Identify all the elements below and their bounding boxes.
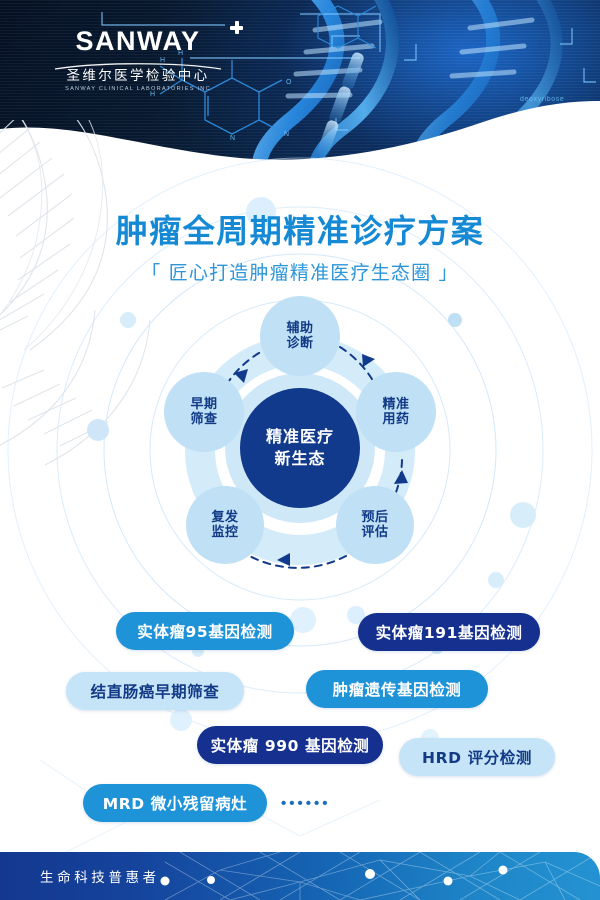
node-label-line2: 诊断: [286, 336, 313, 351]
node-label-line1: 早期: [190, 397, 217, 412]
cycle-node-early-screening[interactable]: 早期 筛查: [164, 372, 244, 452]
svg-text:O: O: [286, 79, 292, 86]
medical-cross-icon: [230, 21, 243, 34]
cycle-node-assisted-diagnosis[interactable]: 辅助 诊断: [260, 296, 340, 376]
product-pill-mrd[interactable]: MRD 微小残留病灶: [83, 784, 267, 822]
product-pill-solid-tumor-990[interactable]: 实体瘤 990 基因检测: [197, 726, 383, 764]
more-items-ellipsis: ••••••: [281, 795, 331, 812]
page-title: 肿瘤全周期精准诊疗方案: [0, 206, 600, 252]
logo-wordmark: SANWAY: [75, 28, 200, 55]
cycle-node-prognosis-evaluation[interactable]: 预后 评估: [336, 486, 414, 564]
logo-swoosh-divider: [53, 58, 223, 66]
node-label-line2: 监控: [211, 525, 238, 540]
footer-slogan: 生命科技普惠者: [40, 852, 160, 900]
cycle-center-line1: 精准医疗: [266, 426, 334, 448]
brand-logo: SANWAY 圣维尔医学检验中心 SANWAY CLINICAL LABORAT…: [48, 28, 228, 92]
product-pill-solid-tumor-191[interactable]: 实体瘤191基因检测: [358, 613, 540, 651]
page-subtitle: 「 匠心打造肿瘤精准医疗生态圈 」: [0, 258, 600, 285]
footer-bar: 生命科技普惠者: [0, 852, 600, 900]
cycle-center-node: 精准医疗 新生态: [240, 388, 360, 508]
node-label-line2: 用药: [382, 412, 409, 427]
product-pill-colorectal-screening[interactable]: 结直肠癌早期筛查: [66, 672, 244, 710]
logo-english-name: SANWAY CLINICAL LABORATORIES INC: [48, 86, 228, 92]
product-pill-solid-tumor-95[interactable]: 实体瘤95基因检测: [116, 612, 294, 650]
node-label-line2: 筛查: [190, 412, 217, 427]
node-label-line1: 辅助: [286, 321, 313, 336]
node-label-line1: 预后: [361, 510, 388, 525]
product-pill-hereditary-tumor[interactable]: 肿瘤遗传基因检测: [306, 670, 488, 708]
node-label-line1: 复发: [211, 510, 238, 525]
node-label-line1: 精准: [382, 397, 409, 412]
precision-medicine-cycle-diagram: 精准医疗 新生态 辅助 诊断 精准 用药 预后 评估 复发 监控 早期 筛查: [150, 300, 450, 600]
header-banner: HHH ONN deoxyribose guanine thymine SANW…: [0, 0, 600, 175]
node-label-line2: 评估: [361, 525, 388, 540]
product-pill-hrd-score[interactable]: HRD 评分检测: [399, 738, 555, 776]
cycle-node-precision-medication[interactable]: 精准 用药: [356, 372, 436, 452]
cycle-node-recurrence-monitoring[interactable]: 复发 监控: [186, 486, 264, 564]
cycle-center-line2: 新生态: [266, 448, 334, 470]
header-wave-divider: [0, 95, 600, 175]
